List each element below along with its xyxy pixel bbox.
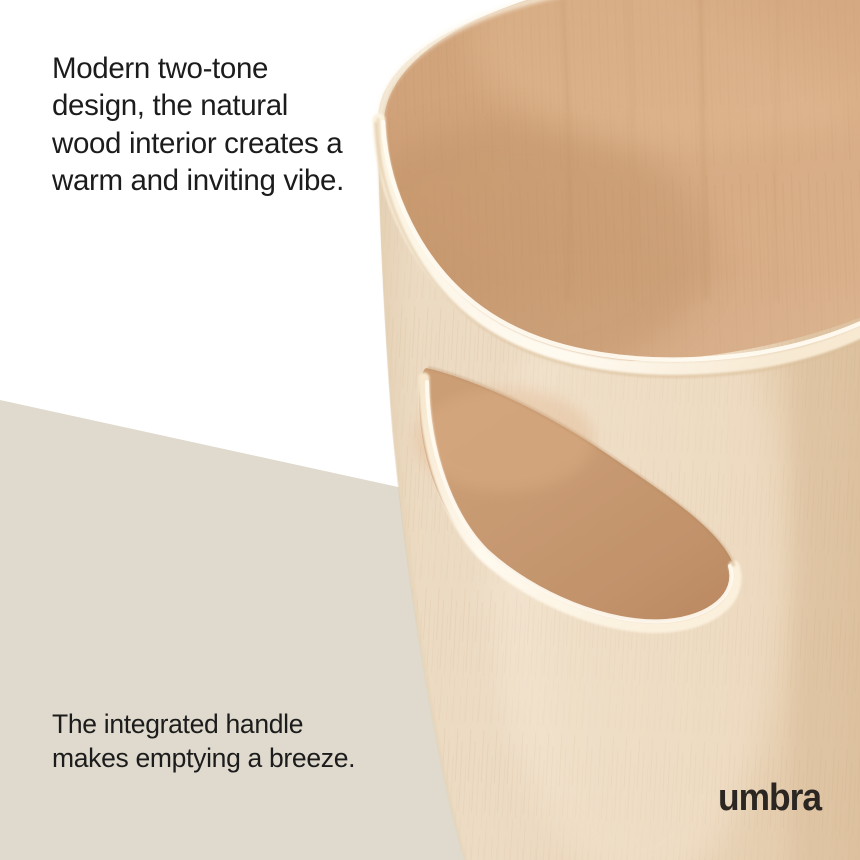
- feature-headline-top: Modern two-tone design, the natural wood…: [52, 50, 352, 199]
- product-feature-panel: Modern two-tone design, the natural wood…: [0, 0, 860, 860]
- feature-headline-bottom: The integrated handle makes emptying a b…: [52, 708, 362, 776]
- umbra-logo: umbra: [718, 779, 821, 817]
